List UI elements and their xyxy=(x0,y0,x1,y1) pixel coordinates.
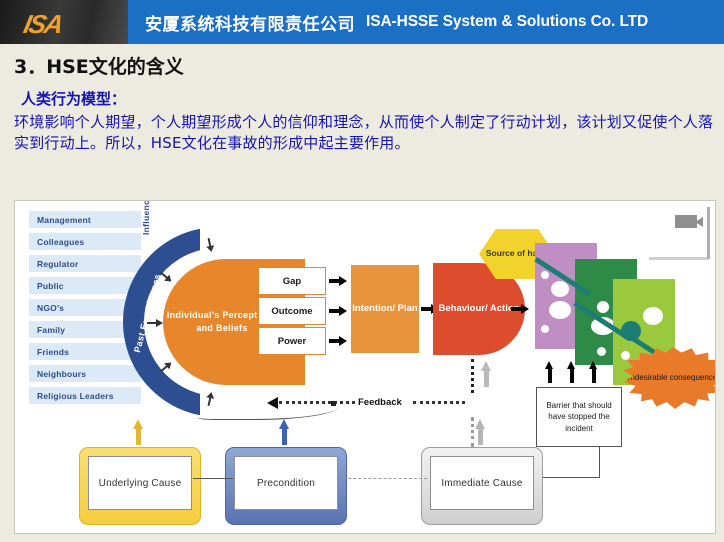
page-header: ISA 安厦系统科技有限责任公司 ISA-HSSE System & Solut… xyxy=(0,0,724,44)
underlying-to-precondition-link xyxy=(193,478,233,479)
underlying-cause-box: Underlying Cause xyxy=(79,447,201,525)
intention-plan-box: Intention/ Plan xyxy=(351,265,419,353)
inward-arrow xyxy=(147,319,163,327)
precondition-up-arrow xyxy=(279,419,290,445)
influencer-item: Public xyxy=(29,277,141,294)
feedback-dotted-line-right xyxy=(413,401,465,404)
underlying-cause-label: Underlying Cause xyxy=(88,456,192,510)
precondition-box: Precondition xyxy=(225,447,347,525)
feedback-label: Feedback xyxy=(358,397,402,408)
header-title-bar: 安厦系统科技有限责任公司 ISA-HSSE System & Solutions… xyxy=(128,0,724,44)
barrier-link-vertical xyxy=(599,447,600,478)
influencer-item: Regulator xyxy=(29,255,141,272)
isa-logo: ISA xyxy=(21,9,65,40)
section-subtitle: 人类行为模型： xyxy=(21,88,126,109)
factor-outcome: Outcome xyxy=(258,297,326,325)
influencer-item: Management xyxy=(29,211,141,228)
precondition-label: Precondition xyxy=(234,456,338,510)
body-paragraph: 环境影响个人期望，个人期望形成个人的信仰和理念，从而使个人制定了行动计划，该计划… xyxy=(14,112,714,155)
influencer-item: Religious Leaders xyxy=(29,387,141,404)
barrier-link-horizontal xyxy=(536,477,600,478)
camera-lens-icon xyxy=(695,217,703,227)
human-behaviour-model-diagram: Influencing Environment Management Colle… xyxy=(14,200,716,534)
barrier-up-arrow xyxy=(589,361,598,383)
hazard-node-dot xyxy=(621,321,641,341)
immediate-cause-up-arrow xyxy=(475,419,486,445)
camera-horizontal-line xyxy=(649,257,709,260)
page-title: 3．HSE文化的含义 xyxy=(14,52,184,79)
logo-panel: ISA xyxy=(0,0,128,44)
influencer-item: Friends xyxy=(29,343,141,360)
influencing-environment-label: Influencing Environment xyxy=(141,200,155,235)
company-name-en: ISA-HSSE System & Solutions Co. LTD xyxy=(366,13,648,31)
immediate-cause-label: Immediate Cause xyxy=(430,456,534,510)
immediate-dotted-vertical xyxy=(471,417,474,447)
influencer-item: Neighbours xyxy=(29,365,141,382)
precondition-to-immediate-link xyxy=(343,478,427,479)
arrow-gap-to-intention xyxy=(329,276,347,286)
influencer-item: Colleagues xyxy=(29,233,141,250)
camera-vertical-line xyxy=(707,207,710,259)
underlying-cause-up-arrow xyxy=(133,419,144,445)
arrow-behaviour-to-barriers xyxy=(511,304,529,314)
barrier-up-arrow xyxy=(567,361,576,383)
barrier-description-box: Barrier that should have stopped the inc… xyxy=(536,387,622,447)
barrier-up-arrow xyxy=(545,361,554,383)
factor-gap: Gap xyxy=(258,267,326,295)
arrow-outcome-to-intention xyxy=(329,306,347,316)
immediate-cause-box: Immediate Cause xyxy=(421,447,543,525)
company-name-cn: 安厦系统科技有限责任公司 xyxy=(145,10,355,35)
grey-up-arrow xyxy=(481,361,493,387)
arrow-power-to-intention xyxy=(329,336,347,346)
feedback-curve-endpoint xyxy=(331,401,336,406)
video-camera-icon xyxy=(675,215,697,228)
factor-power: Power xyxy=(258,327,326,355)
behaviour-dotted-vertical xyxy=(471,359,474,393)
